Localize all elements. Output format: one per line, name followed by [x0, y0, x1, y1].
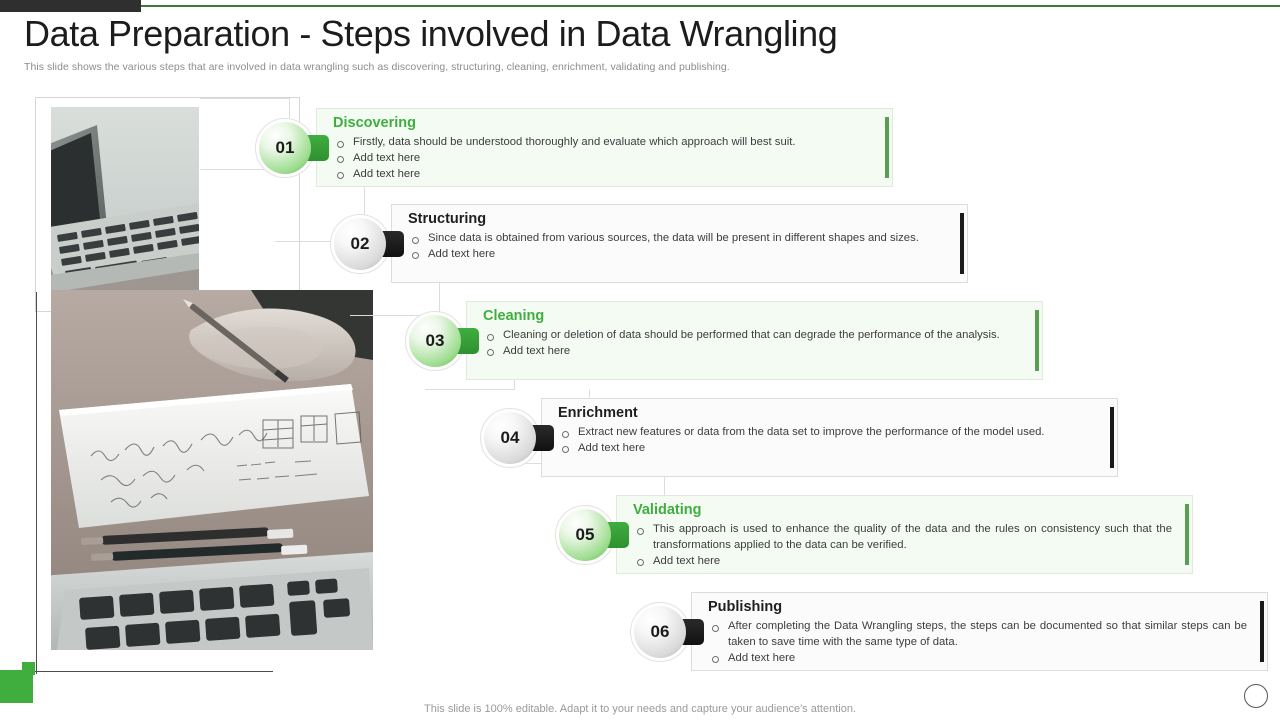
- step-03-bullets: Cleaning or deletion of data should be p…: [483, 328, 1022, 360]
- step-06-title: Publishing: [708, 599, 782, 615]
- step-05-number-badge[interactable]: 05: [555, 505, 615, 565]
- step-01-title: Discovering: [333, 115, 416, 131]
- hands-writing-photo-illustration: [51, 290, 373, 650]
- step-05-bullet-1: This approach is used to enhance the qua…: [633, 522, 1172, 554]
- bottom-horizontal-rule: [21, 671, 273, 672]
- step-05-title: Validating: [633, 502, 702, 518]
- green-square-small-decoration: [22, 662, 35, 675]
- step-02-title: Structuring: [408, 211, 486, 227]
- step-04-number-badge[interactable]: 04: [480, 408, 540, 468]
- step-02-bullet-1: Since data is obtained from various sour…: [408, 231, 947, 247]
- footer-note: This slide is 100% editable. Adapt it to…: [0, 703, 1280, 715]
- step-03-right-accent: [1035, 310, 1039, 371]
- step-06-panel: Publishing After completing the Data Wra…: [691, 592, 1268, 671]
- step-04-right-accent: [1110, 407, 1114, 468]
- step-05-panel: Validating This approach is used to enha…: [616, 495, 1193, 574]
- page-title: Data Preparation - Steps involved in Dat…: [24, 13, 1024, 55]
- step-01-bullets: Firstly, data should be understood thoro…: [333, 135, 872, 182]
- step-06-bullet-2: Add text here: [708, 651, 1247, 667]
- step-03-title: Cleaning: [483, 308, 544, 324]
- top-green-rule: [0, 5, 1280, 7]
- step-04-title: Enrichment: [558, 405, 638, 421]
- laptop-photo-illustration: [51, 107, 199, 315]
- step-01-bullet-3: Add text here: [333, 167, 872, 183]
- left-vertical-rule: [36, 292, 37, 674]
- step-05-bullet-2: Add text here: [633, 554, 1172, 570]
- step-06-right-accent: [1260, 601, 1264, 662]
- step-02-panel: Structuring Since data is obtained from …: [391, 204, 968, 283]
- step-04-bullet-2: Add text here: [558, 441, 1097, 457]
- step-01-bullet-2: Add text here: [333, 151, 872, 167]
- step-06-bullets: After completing the Data Wrangling step…: [708, 619, 1247, 666]
- photo-laptop: [51, 107, 199, 315]
- step-02-number-badge[interactable]: 02: [330, 214, 390, 274]
- step-02-badge-number: 02: [334, 218, 386, 270]
- step-06-bullet-1: After completing the Data Wrangling step…: [708, 619, 1247, 651]
- step-01-badge-number: 01: [259, 122, 311, 174]
- step-03-bullet-2: Add text here: [483, 344, 1022, 360]
- step-04-bullet-1: Extract new features or data from the da…: [558, 425, 1097, 441]
- slide-canvas: Data Preparation - Steps involved in Dat…: [0, 0, 1280, 720]
- step-02-bullet-2: Add text here: [408, 247, 947, 263]
- corner-circle-decoration: [1244, 684, 1268, 708]
- step-03-panel: Cleaning Cleaning or deletion of data sh…: [466, 301, 1043, 380]
- step-06-number-badge[interactable]: 06: [630, 602, 690, 662]
- step-04-badge-number: 04: [484, 412, 536, 464]
- photo-hands-writing: [51, 290, 373, 650]
- step-03-number-badge[interactable]: 03: [405, 311, 465, 371]
- step-02-right-accent: [960, 213, 964, 274]
- step-01-panel: Discovering Firstly, data should be unde…: [316, 108, 893, 187]
- top-dark-bar: [0, 0, 141, 12]
- step-06-badge-number: 06: [634, 606, 686, 658]
- step-01-bullet-1: Firstly, data should be understood thoro…: [333, 135, 872, 151]
- step-05-bullets: This approach is used to enhance the qua…: [633, 522, 1172, 569]
- step-04-bullets: Extract new features or data from the da…: [558, 425, 1097, 457]
- step-01-number-badge[interactable]: 01: [255, 118, 315, 178]
- step-05-right-accent: [1185, 504, 1189, 565]
- page-subtitle: This slide shows the various steps that …: [24, 61, 1124, 73]
- step-03-badge-number: 03: [409, 315, 461, 367]
- step-02-bullets: Since data is obtained from various sour…: [408, 231, 947, 263]
- step-01-right-accent: [885, 117, 889, 178]
- step-03-bullet-1: Cleaning or deletion of data should be p…: [483, 328, 1022, 344]
- step-04-panel: Enrichment Extract new features or data …: [541, 398, 1118, 477]
- step-05-badge-number: 05: [559, 509, 611, 561]
